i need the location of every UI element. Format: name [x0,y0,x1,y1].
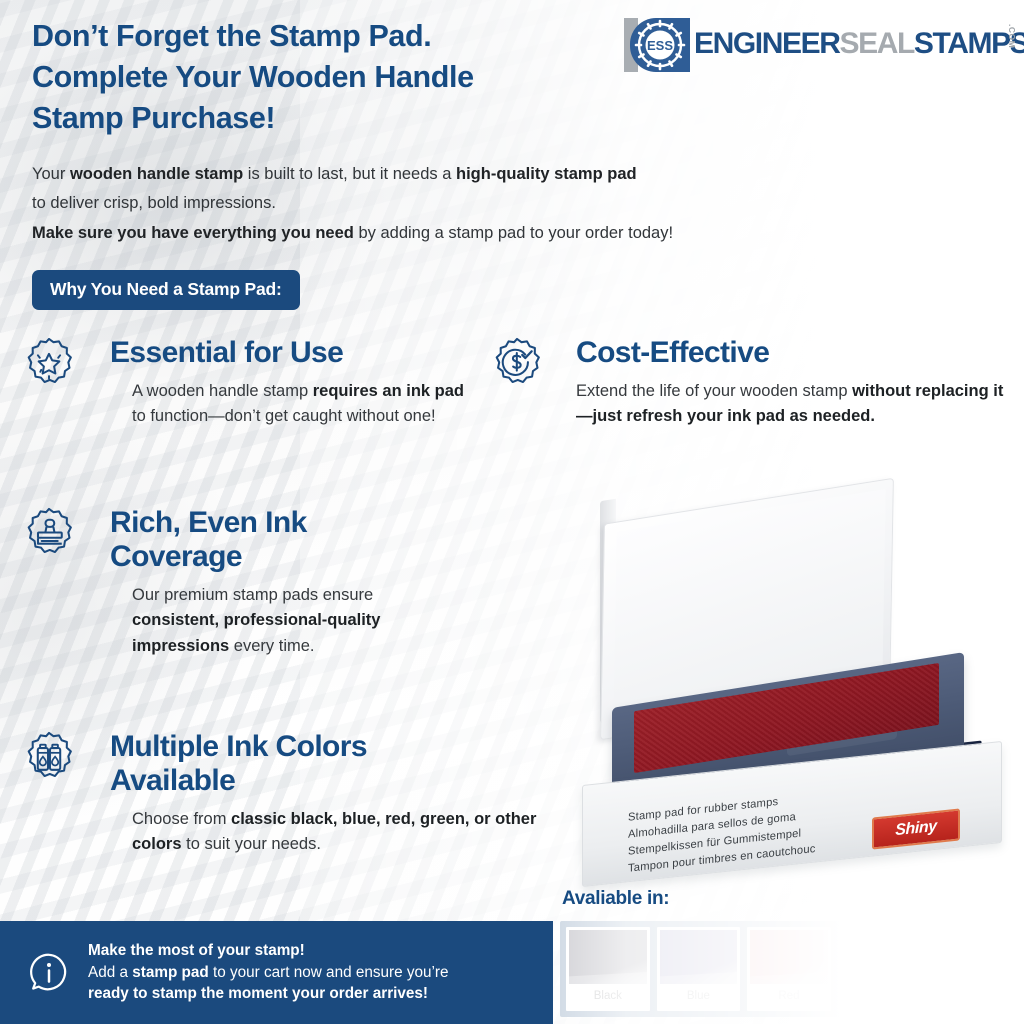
feature-title-line-1: Multiple Ink Colors [110,730,540,764]
feature-title: Essential for Use [110,336,475,370]
feature-body-text: Choose from [132,810,231,828]
header: Don’t Forget the Stamp Pad. Complete You… [0,0,1024,150]
feature-body: A wooden handle stamp requires an ink pa… [132,379,472,430]
intro-emphasis-wooden-handle-stamp: wooden handle stamp [70,165,243,183]
page-headline: Don’t Forget the Stamp Pad. Complete You… [32,16,652,139]
product-photo-stamp-pad: Stamp pad for rubber stamps Almohadilla … [560,495,1016,895]
feature-title-line-2: Coverage [110,540,460,574]
stamp-badge-icon [20,506,78,564]
headline-line-2: Complete Your Wooden Handle [32,57,652,98]
ink-bottles-badge-icon [20,730,78,788]
cta-line-3: ready to stamp the moment your order arr… [88,983,449,1005]
cta-line-1: Make the most of your stamp! [88,940,449,962]
intro-text: by adding a stamp pad to your order toda… [354,224,673,242]
cta-text: Make the most of your stamp! Add a stamp… [88,940,449,1005]
intro-line-3: Make sure you have everything you need b… [32,219,912,248]
logo-tld: .COM [1007,24,1016,48]
feature-rich-even-ink-coverage: Rich, Even Ink Coverage Our premium stam… [20,506,460,659]
feature-body: Extend the life of your wooden stamp wit… [576,379,1006,430]
cta-text-span: Add a [88,964,132,981]
star-badge-icon [20,336,78,394]
feature-body-text: to function—don’t get caught without one… [132,407,436,425]
cta-banner: Make the most of your stamp! Add a stamp… [0,921,553,1024]
feature-body-text: to suit your needs. [182,835,321,853]
intro-emphasis-high-quality-stamp-pad: high-quality stamp pad [456,165,637,183]
logo-monogram: ESS [647,38,673,53]
feature-body-emphasis: requires an ink pad [313,382,464,400]
feature-title: Multiple Ink Colors Available [110,730,540,798]
feature-body-text: Extend the life of your wooden stamp [576,382,852,400]
headline-line-3: Stamp Purchase! [32,98,652,139]
feature-body: Our premium stamp pads ensure consistent… [132,583,462,660]
feature-body-text: every time. [229,637,314,655]
intro-text: Your [32,165,70,183]
available-in-title: Avaliable in: [562,888,669,910]
feature-body-text: A wooden handle stamp [132,382,313,400]
intro-line-2: to deliver crisp, bold impressions. [32,189,912,218]
headline-line-1: Don’t Forget the Stamp Pad. [32,16,652,57]
cta-line-2: Add a stamp pad to your cart now and ens… [88,962,449,984]
feature-title-line-1: Rich, Even Ink [110,506,460,540]
section-badge-why-you-need: Why You Need a Stamp Pad: [32,270,300,310]
logo-word-engineer: ENGINEER [694,27,840,60]
intro-paragraph: Your wooden handle stamp is built to las… [32,160,912,248]
intro-line-1: Your wooden handle stamp is built to las… [32,160,912,189]
intro-emphasis-make-sure: Make sure you have everything you need [32,224,354,242]
feature-title-line-2: Available [110,764,540,798]
cta-text-span: to your cart now and ensure you’re [209,964,449,981]
feature-cost-effective: Cost-Effective Extend the life of your w… [488,336,1008,430]
feature-essential-for-use: Essential for Use A wooden handle stamp … [20,336,475,430]
feature-title: Rich, Even Ink Coverage [110,506,460,574]
info-bubble-icon [26,950,72,996]
feature-multiple-ink-colors: Multiple Ink Colors Available Choose fro… [20,730,540,858]
brand-logo[interactable]: ESS ENGINEERSEALSTAMPS .COM [624,18,1016,72]
feature-body: Choose from classic black, blue, red, gr… [132,807,542,858]
intro-text: is built to last, but it needs a [243,165,456,183]
logo-word-seal: SEAL [840,27,914,60]
feature-title: Cost-Effective [576,336,1008,370]
logo-wordmark: ENGINEERSEALSTAMPS [694,22,1024,66]
cta-emphasis-stamp-pad: stamp pad [132,964,209,981]
ess-gear-seal-icon: ESS [624,18,690,72]
dollar-check-badge-icon [488,336,546,394]
feature-body-text: Our premium stamp pads ensure [132,586,373,604]
